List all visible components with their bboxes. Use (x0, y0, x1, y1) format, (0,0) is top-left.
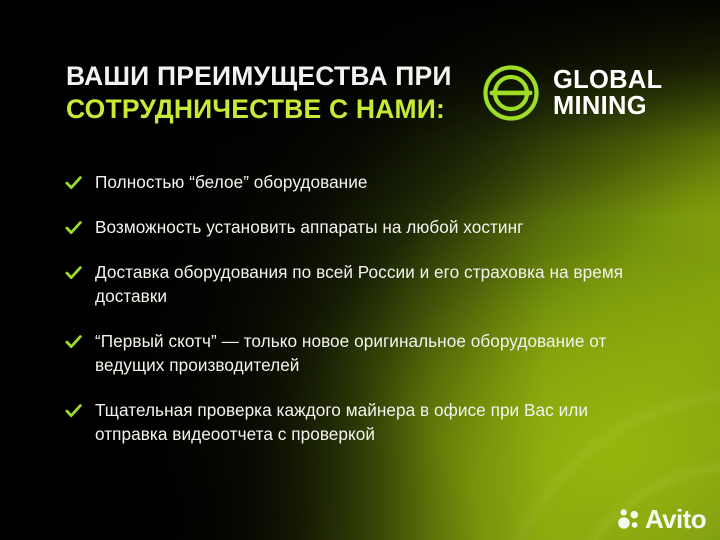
list-item: Возможность установить аппараты на любой… (64, 215, 672, 239)
brand-logo-line-1: GLOBAL (553, 67, 662, 93)
check-icon (64, 170, 83, 192)
list-item-label: Доставка оборудования по всей России и е… (95, 260, 655, 308)
list-item: Полностью “белое” оборудование (64, 170, 672, 194)
page-title-line-1: ВАШИ ПРЕИМУЩЕСТВА ПРИ (66, 60, 476, 93)
benefits-list: Полностью “белое” оборудование Возможнос… (64, 170, 672, 446)
global-mining-emblem-icon (482, 64, 540, 122)
check-icon (64, 215, 83, 237)
page-title: ВАШИ ПРЕИМУЩЕСТВА ПРИ СОТРУДНИЧЕСТВЕ С Н… (66, 60, 476, 126)
list-item: “Первый скотч” — только новое оригинальн… (64, 329, 672, 377)
list-item: Доставка оборудования по всей России и е… (64, 260, 672, 308)
list-item-label: Тщательная проверка каждого майнера в оф… (95, 398, 655, 446)
check-icon (64, 398, 83, 420)
check-icon (64, 260, 83, 282)
brand-logo-line-2: MINING (553, 93, 662, 119)
brand-logo-wordmark: GLOBAL MINING (553, 67, 662, 119)
check-icon (64, 329, 83, 351)
avito-wordmark: Avito (645, 506, 706, 532)
brand-logo: GLOBAL MINING (482, 64, 662, 122)
list-item-label: Полностью “белое” оборудование (95, 170, 368, 194)
list-item-label: Возможность установить аппараты на любой… (95, 215, 523, 239)
promo-slide: ВАШИ ПРЕИМУЩЕСТВА ПРИ СОТРУДНИЧЕСТВЕ С Н… (0, 0, 720, 540)
avito-dots-icon (617, 508, 640, 531)
list-item: Тщательная проверка каждого майнера в оф… (64, 398, 672, 446)
page-title-line-2: СОТРУДНИЧЕСТВЕ С НАМИ: (66, 93, 476, 126)
list-item-label: “Первый скотч” — только новое оригинальн… (95, 329, 655, 377)
avito-watermark: Avito (617, 506, 706, 532)
